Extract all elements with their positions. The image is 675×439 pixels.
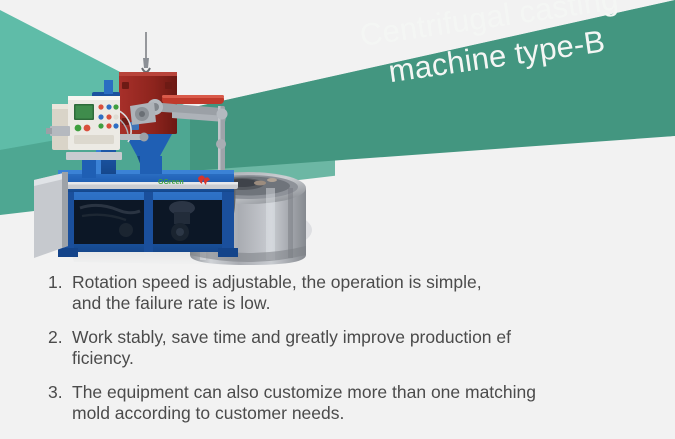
feature-text-2: Work stably, save time and greatly impro…	[72, 327, 658, 369]
feature-text-1: Rotation speed is adjustable, the operat…	[72, 272, 658, 314]
hoist-assembly	[142, 32, 150, 72]
feature-number-1: 1.	[48, 272, 72, 293]
feature-text-3: The equipment can also customize more th…	[72, 382, 658, 424]
product-image: GGreen	[22, 30, 362, 275]
stainless-end-guard	[34, 172, 68, 258]
feature-list: 1. Rotation speed is adjustable, the ope…	[48, 272, 658, 437]
feature-number-3: 3.	[48, 382, 72, 403]
feature-item-1: 1. Rotation speed is adjustable, the ope…	[48, 272, 658, 314]
feature-number-2: 2.	[48, 327, 72, 348]
svg-text:GGreen: GGreen	[158, 179, 184, 186]
product-banner: GGreen Centrifugal casting machine type-…	[0, 0, 675, 439]
feature-item-2: 2. Work stably, save time and greatly im…	[48, 327, 658, 369]
feature-item-3: 3. The equipment can also customize more…	[48, 382, 658, 424]
